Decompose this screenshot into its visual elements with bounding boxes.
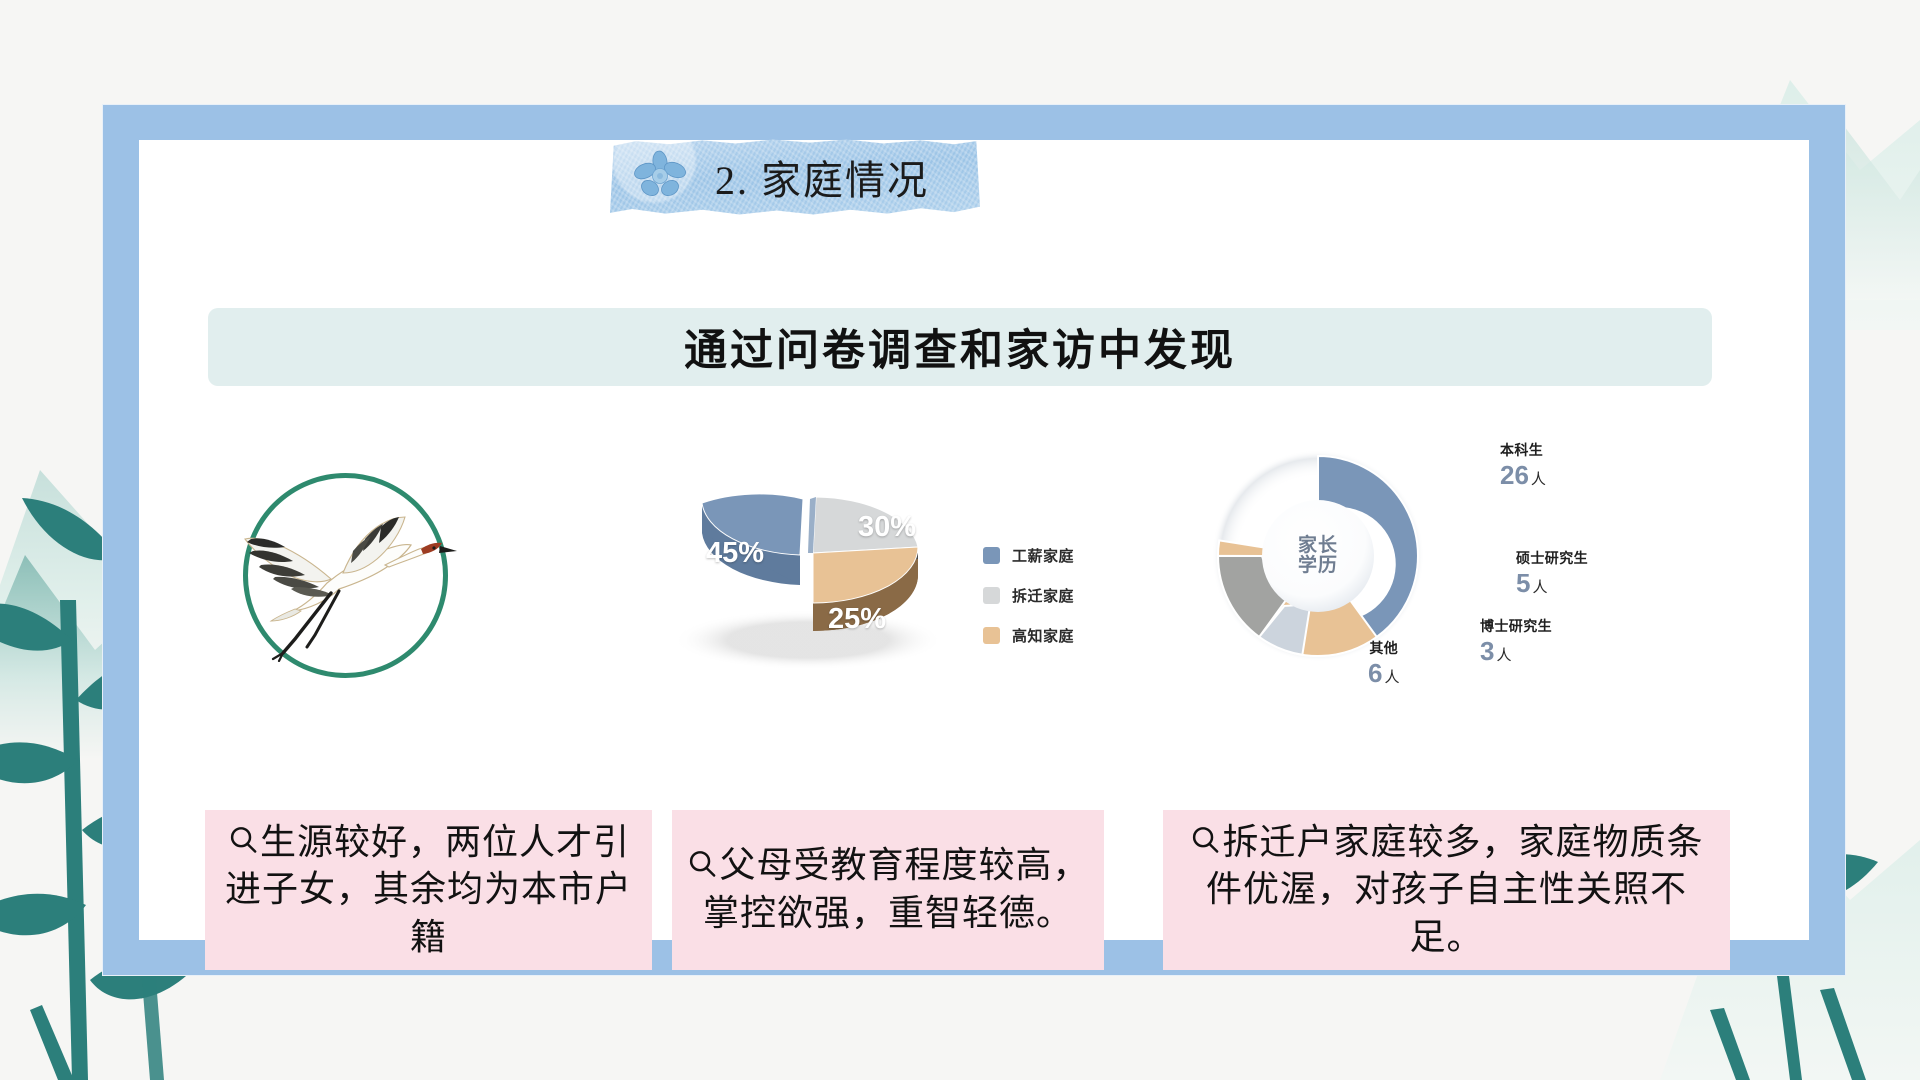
legend-swatch-chaiqian [983, 587, 1000, 604]
donut-label-doctor: 博士研究生 3人 [1480, 616, 1552, 667]
note-text-3: 拆迁户家庭较多，家庭物质条件优渥，对孩子自主性关照不足。 [1177, 819, 1716, 962]
donut-label-bachelor: 本科生 26人 [1500, 440, 1546, 491]
legend-item-gongxin: 工薪家庭 [983, 540, 1074, 570]
pie-legend: 工薪家庭 拆迁家庭 高知家庭 [983, 540, 1074, 660]
crane-illustration [243, 473, 448, 678]
note-card-3: 拆迁户家庭较多，家庭物质条件优渥，对孩子自主性关照不足。 [1163, 810, 1730, 970]
donut-label-other: 其他 6人 [1368, 638, 1399, 689]
donut-label-other-name: 其他 [1368, 638, 1399, 658]
donut-center-line-1: 家长 [1298, 536, 1338, 556]
donut-label-master: 硕士研究生 5人 [1516, 548, 1588, 599]
donut-label-bachelor-unit: 人 [1531, 471, 1546, 488]
donut-label-doctor-unit: 人 [1496, 647, 1511, 664]
donut-label-master-value: 5 [1516, 568, 1530, 598]
donut-label-doctor-name: 博士研究生 [1480, 616, 1552, 636]
parent-education-donut-chart: 家长 学历 本科生 26人 硕士研究生 5人 博士研究生 3人 其他 6人 [1198, 440, 1618, 670]
pie-label-chaiqian: 30% [858, 511, 916, 544]
note-text-1: 生源较好，两位人才引进子女，其余均为本市户籍 [219, 819, 638, 962]
donut-label-bachelor-name: 本科生 [1500, 440, 1546, 460]
subtitle-text: 通过问卷调查和家访中发现 [684, 316, 1236, 378]
page-title: 2. 家庭情况 [610, 138, 980, 216]
donut-label-other-value: 6 [1368, 658, 1382, 688]
family-type-pie-chart: 45% 30% 25% 工薪家庭 拆迁家庭 高知家庭 [640, 455, 1110, 690]
note-body-2: 父母受教育程度较高，掌控欲强，重智轻德。 [703, 845, 1090, 933]
note-body-3: 拆迁户家庭较多，家庭物质条件优渥，对孩子自主性关照不足。 [1206, 822, 1704, 957]
legend-swatch-gaozhi [983, 627, 1000, 644]
flying-crane-icon [235, 487, 457, 662]
slide-title-banner: 2. 家庭情况 [610, 138, 980, 216]
note-text-2: 父母受教育程度较高，掌控欲强，重智轻德。 [686, 842, 1090, 937]
legend-swatch-gongxin [983, 547, 1000, 564]
donut-center-line-2: 学历 [1298, 556, 1338, 576]
legend-label-chaiqian: 拆迁家庭 [1012, 585, 1074, 606]
pie-chart-svg [640, 455, 980, 690]
donut-label-bachelor-value: 26 [1500, 460, 1529, 490]
pie-label-gongxin: 45% [706, 537, 764, 570]
note-body-1: 生源较好，两位人才引进子女，其余均为本市户籍 [225, 822, 632, 957]
donut-label-master-unit: 人 [1532, 579, 1547, 596]
search-icon [686, 848, 719, 881]
notes-row: 生源较好，两位人才引进子女，其余均为本市户籍 父母受教育程度较高，掌控欲强，重智… [0, 800, 1920, 980]
subtitle-bar: 通过问卷调查和家访中发现 [208, 308, 1712, 386]
legend-label-gongxin: 工薪家庭 [1012, 545, 1074, 566]
search-icon [1189, 824, 1222, 857]
donut-label-other-unit: 人 [1384, 669, 1399, 686]
note-card-1: 生源较好，两位人才引进子女，其余均为本市户籍 [205, 810, 652, 970]
search-icon [227, 824, 260, 857]
legend-label-gaozhi: 高知家庭 [1012, 625, 1074, 646]
donut-label-master-name: 硕士研究生 [1516, 548, 1588, 568]
donut-label-doctor-value: 3 [1480, 636, 1494, 666]
legend-item-chaiqian: 拆迁家庭 [983, 580, 1074, 610]
pie-label-gaozhi: 25% [828, 603, 886, 636]
donut-center-label: 家长 学历 [1276, 516, 1360, 596]
note-card-2: 父母受教育程度较高，掌控欲强，重智轻德。 [672, 810, 1104, 970]
legend-item-gaozhi: 高知家庭 [983, 620, 1074, 650]
